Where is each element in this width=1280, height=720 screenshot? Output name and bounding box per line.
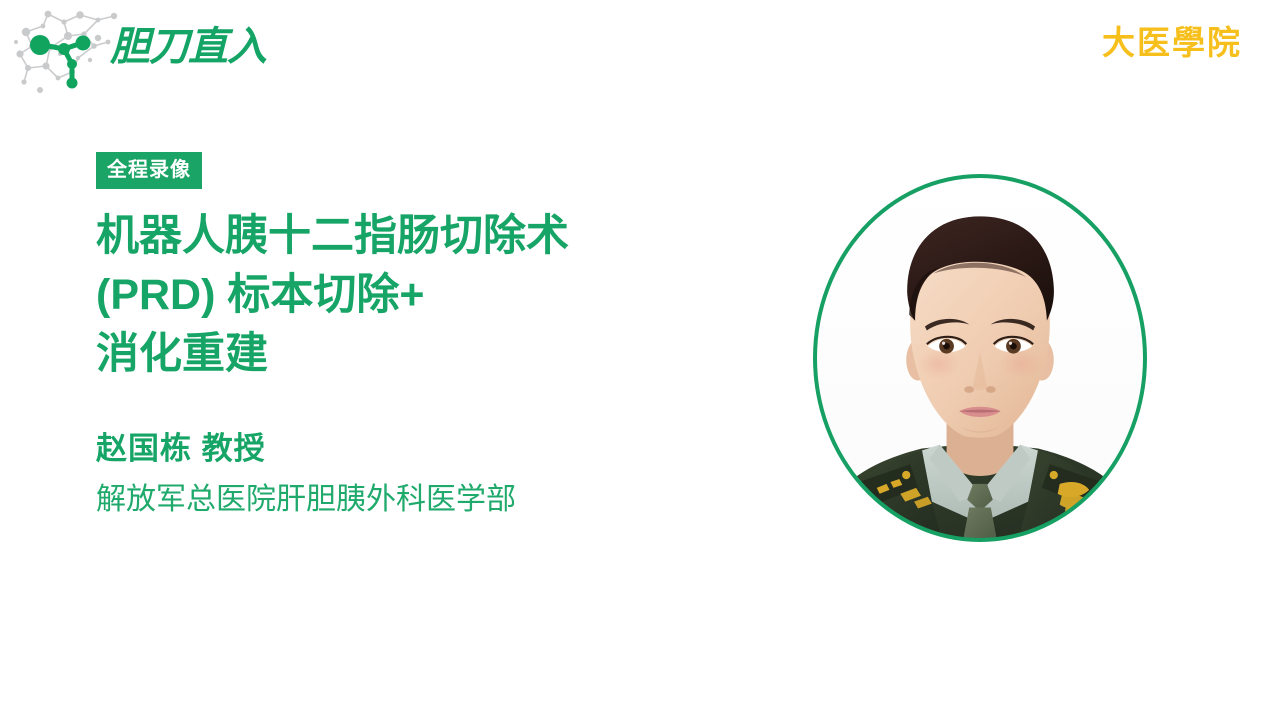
title-line: 机器人胰十二指肠切除术 xyxy=(96,207,756,266)
speaker-affiliation: 解放军总医院肝胆胰外科医学部 xyxy=(96,479,756,521)
brand-logo: 胆刀直入 xyxy=(0,0,300,100)
title-line: 消化重建 xyxy=(96,325,756,384)
network-nodes-icon xyxy=(2,2,120,100)
presentation-slide: 胆刀直入 大医學院 全程录像 机器人胰十二指肠切除术 (PRD) 标本切除+ 消… xyxy=(0,0,1280,720)
academy-mark: 大医學院 xyxy=(1102,20,1242,66)
title-line: (PRD) 标本切除+ xyxy=(96,266,756,325)
brand-wordmark: 胆刀直入 xyxy=(110,16,290,78)
slide-content: 全程录像 机器人胰十二指肠切除术 (PRD) 标本切除+ 消化重建 赵国栋 教授… xyxy=(96,152,756,521)
status-badge: 全程录像 xyxy=(96,152,202,189)
page-title: 机器人胰十二指肠切除术 (PRD) 标本切除+ 消化重建 xyxy=(96,207,756,384)
speaker-name: 赵国栋 教授 xyxy=(96,428,756,470)
avatar-image xyxy=(816,177,1144,539)
avatar xyxy=(813,174,1147,542)
speaker-info: 赵国栋 教授 解放军总医院肝胆胰外科医学部 xyxy=(96,428,756,521)
